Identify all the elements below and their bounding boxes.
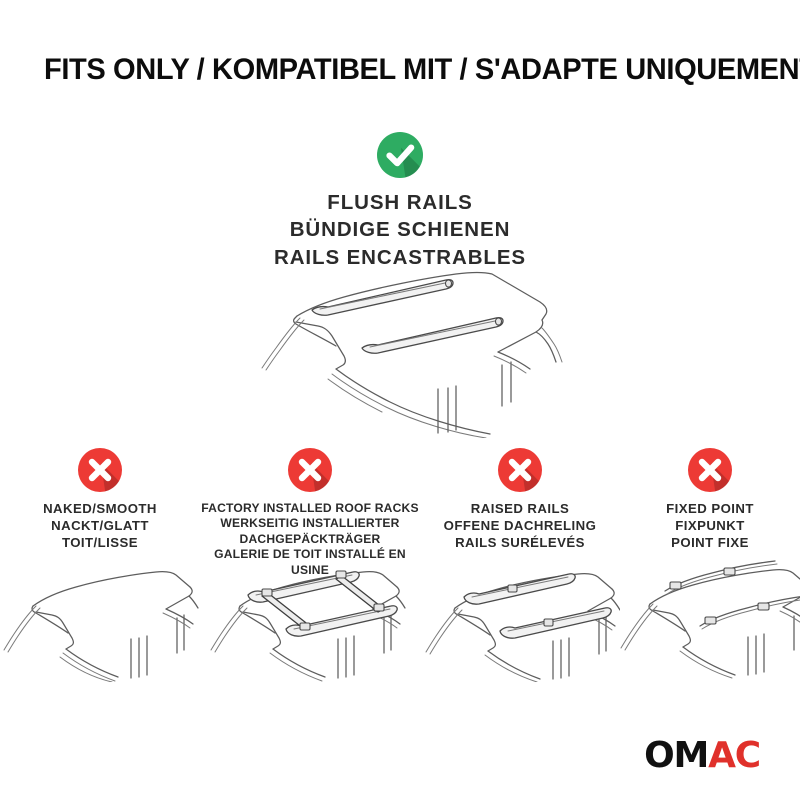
incompatible-item-factory-racks: FACTORY INSTALLED ROOF RACKS WERKSEITIG …: [200, 448, 420, 578]
page-title: FITS ONLY / KOMPATIBEL MIT / S'ADAPTE UN…: [44, 54, 749, 86]
compatible-label-de: BÜNDIGE SCHIENEN: [0, 216, 800, 243]
x-circle-icon: [498, 448, 542, 492]
compatible-section: FLUSH RAILS BÜNDIGE SCHIENEN RAILS ENCAS…: [0, 132, 800, 271]
label-de: NACKT/GLATT: [0, 518, 200, 535]
incompatible-labels-raised-rails: RAISED RAILS OFFENE DACHRELING RAILS SUR…: [420, 501, 620, 552]
label-de-1: WERKSEITIG INSTALLIERTER: [200, 516, 420, 531]
car-roof-flush-rails-illustration: [240, 268, 580, 438]
car-roof-naked-illustration: [0, 552, 200, 682]
incompatible-item-naked: NAKED/SMOOTH NACKT/GLATT TOIT/LISSE: [0, 448, 200, 578]
label-en: RAISED RAILS: [420, 501, 620, 518]
label-en: FIXED POINT: [620, 501, 800, 518]
car-roof-fixed-point-illustration: [620, 546, 800, 682]
logo-text-om: OM: [644, 735, 708, 776]
label-en: NAKED/SMOOTH: [0, 501, 200, 518]
compatible-labels: FLUSH RAILS BÜNDIGE SCHIENEN RAILS ENCAS…: [0, 189, 800, 271]
x-circle-icon: [78, 448, 122, 492]
incompatible-item-raised-rails: RAISED RAILS OFFENE DACHRELING RAILS SUR…: [420, 448, 620, 578]
incompatible-labels-naked: NAKED/SMOOTH NACKT/GLATT TOIT/LISSE: [0, 501, 200, 552]
car-roof-factory-racks-illustration: [200, 540, 420, 682]
incompatible-section: NAKED/SMOOTH NACKT/GLATT TOIT/LISSE: [0, 448, 800, 578]
car-roof-raised-rails-illustration: [420, 546, 620, 682]
compatible-label-fr: RAILS ENCASTRABLES: [0, 244, 800, 271]
incompatible-item-fixed-point: FIXED POINT FIXPUNKT POINT FIXE: [620, 448, 800, 578]
logo-text-ac: AC: [708, 735, 760, 776]
check-circle-icon: [377, 132, 423, 178]
omac-logo: OMAC: [644, 738, 760, 774]
x-circle-icon: [688, 448, 732, 492]
compatible-label-en: FLUSH RAILS: [0, 189, 800, 216]
label-fr: TOIT/LISSE: [0, 535, 200, 552]
label-de: OFFENE DACHRELING: [420, 518, 620, 535]
incompatible-labels-fixed-point: FIXED POINT FIXPUNKT POINT FIXE: [620, 501, 800, 552]
label-de: FIXPUNKT: [620, 518, 800, 535]
label-en: FACTORY INSTALLED ROOF RACKS: [200, 501, 420, 516]
x-circle-icon: [288, 448, 332, 492]
